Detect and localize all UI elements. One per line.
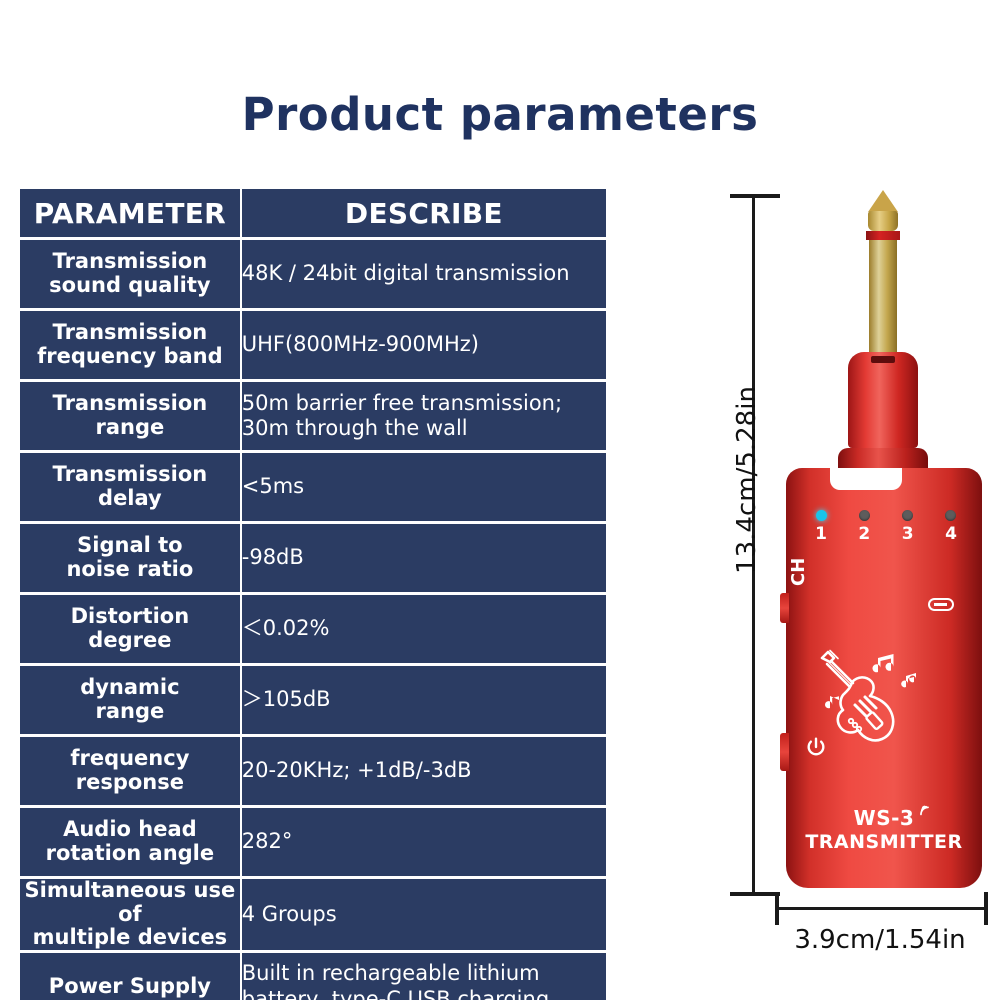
parameter-cell: Transmissionsound quality <box>20 240 240 308</box>
electric-guitar-icon <box>808 640 936 768</box>
parameter-cell: Transmissionrange <box>20 382 240 450</box>
describe-cell: 282° <box>242 808 606 876</box>
led-number-label: 4 <box>936 524 966 544</box>
parameter-cell: Distortiondegree <box>20 595 240 663</box>
jack-rotating-collar <box>848 352 918 448</box>
led-number-label: 1 <box>806 524 836 544</box>
describe-cell: UHF(800MHz-900MHz) <box>242 311 606 379</box>
describe-cell: 4 Groups <box>242 879 606 950</box>
table-row: Transmissionfrequency bandUHF(800MHz-900… <box>20 311 606 379</box>
describe-cell: 48K / 24bit digital transmission <box>242 240 606 308</box>
led-dot-icon <box>945 510 956 521</box>
table-row: dynamicrange＞105dB <box>20 666 606 734</box>
describe-cell: <5ms <box>242 453 606 521</box>
wireless-transmitter-device: 1234 CH <box>768 180 988 900</box>
table-row: Power SupplyBuilt in rechargeable lithiu… <box>20 953 606 1000</box>
led-indicator: 3 <box>893 510 923 544</box>
parameter-cell: Signal tonoise ratio <box>20 524 240 592</box>
led-number-label: 3 <box>893 524 923 544</box>
jack-collar-slot <box>871 356 895 363</box>
table-row: Transmissionsound quality48K / 24bit dig… <box>20 240 606 308</box>
height-dimension-label: 13.4cm/5.28in <box>732 375 762 585</box>
brand-type-label: TRANSMITTER <box>786 831 982 853</box>
product-parameters-page: Product parameters PARAMETER DESCRIBE Tr… <box>0 0 1000 1000</box>
device-branding: WS-3 TRANSMITTER <box>786 806 982 853</box>
jack-plug-tip <box>868 190 898 212</box>
width-dimension-label: 3.9cm/1.54in <box>760 925 1000 955</box>
channel-button-label: CH <box>788 558 809 586</box>
describe-cell: ＞105dB <box>242 666 606 734</box>
table-row: Distortiondegree＜0.02% <box>20 595 606 663</box>
width-dimension-line <box>776 907 988 910</box>
parameter-cell: Power Supply <box>20 953 240 1000</box>
led-dot-icon <box>902 510 913 521</box>
led-indicator: 1 <box>806 510 836 544</box>
header-describe: DESCRIBE <box>242 189 606 237</box>
product-image-area: 13.4cm/5.28in 3.9cm/1.54in 1234 CH <box>690 180 1000 960</box>
page-title: Product parameters <box>0 88 1000 141</box>
table-row: Simultaneous use ofmultiple devices4 Gro… <box>20 879 606 950</box>
parameter-cell: dynamicrange <box>20 666 240 734</box>
brand-model-text: WS-3 <box>854 806 915 830</box>
jack-plug-neck <box>868 211 898 231</box>
table-row: Signal tonoise ratio-98dB <box>20 524 606 592</box>
table-row: Transmissiondelay<5ms <box>20 453 606 521</box>
parameter-cell: Simultaneous use ofmultiple devices <box>20 879 240 950</box>
describe-cell: Built in rechargeable lithiumbattery, ty… <box>242 953 606 1000</box>
channel-button[interactable] <box>780 593 789 623</box>
parameter-cell: Audio headrotation angle <box>20 808 240 876</box>
led-dot-icon <box>859 510 870 521</box>
led-indicator: 2 <box>849 510 879 544</box>
device-body-notch <box>830 468 902 490</box>
describe-cell: 50m barrier free transmission;30m throug… <box>242 382 606 450</box>
describe-cell: 20-20KHz; +1dB/-3dB <box>242 737 606 805</box>
brand-model-label: WS-3 <box>854 806 915 830</box>
header-parameter: PARAMETER <box>20 189 240 237</box>
led-indicator: 4 <box>936 510 966 544</box>
power-button[interactable] <box>780 733 789 771</box>
led-dot-icon <box>816 510 827 521</box>
parameter-cell: Transmissionfrequency band <box>20 311 240 379</box>
specification-table: PARAMETER DESCRIBE Transmissionsound qua… <box>18 186 608 1000</box>
usb-c-port-icon <box>928 598 954 611</box>
led-number-label: 2 <box>849 524 879 544</box>
jack-plug-red-ring <box>866 231 900 240</box>
parameter-cell: frequencyresponse <box>20 737 240 805</box>
jack-plug-shaft <box>869 240 897 358</box>
describe-cell: ＜0.02% <box>242 595 606 663</box>
led-indicator-row: 1234 <box>806 510 966 544</box>
table-row: frequencyresponse20-20KHz; +1dB/-3dB <box>20 737 606 805</box>
parameter-cell: Transmissiondelay <box>20 453 240 521</box>
table-body: Transmissionsound quality48K / 24bit dig… <box>20 240 606 1000</box>
wireless-signal-icon <box>916 799 933 816</box>
table-row: Audio headrotation angle282° <box>20 808 606 876</box>
table-row: Transmissionrange50m barrier free transm… <box>20 382 606 450</box>
table-header-row: PARAMETER DESCRIBE <box>20 189 606 237</box>
describe-cell: -98dB <box>242 524 606 592</box>
